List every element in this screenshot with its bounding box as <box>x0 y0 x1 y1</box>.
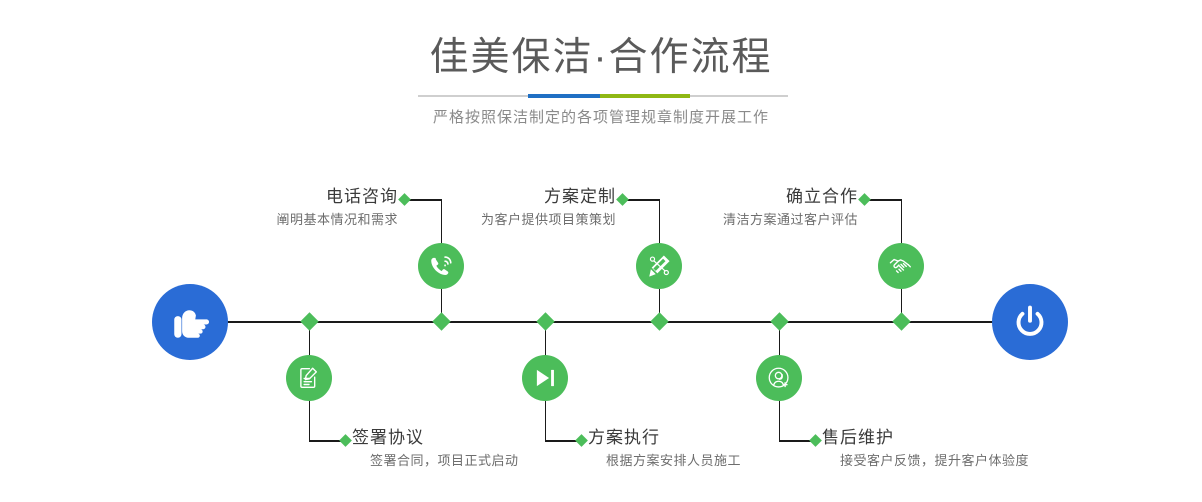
customer-service-add-icon <box>766 365 792 391</box>
timeline-end-endpoint <box>992 284 1068 360</box>
connector-vline-execute-lower <box>545 400 547 441</box>
axis-marker-signing <box>300 312 318 330</box>
connector-vline-design-upper <box>659 199 661 244</box>
step-heading: 方案执行 <box>588 427 741 449</box>
page-subtitle: 严格按照保洁制定的各项管理规章制度开展工作 <box>0 106 1202 127</box>
connector-vline-phone-upper <box>441 199 443 244</box>
step-heading: 电话咨询 <box>150 186 398 208</box>
timeline-start-endpoint <box>152 284 228 360</box>
step-node-design[interactable] <box>636 243 682 289</box>
title-divider <box>418 95 788 97</box>
divider-blue-segment <box>528 94 600 98</box>
pencil-design-icon <box>646 253 672 279</box>
connector-vline-signing-lower <box>309 400 311 441</box>
axis-marker-handshake <box>892 312 910 330</box>
step-subtext: 根据方案安排人员施工 <box>588 451 741 471</box>
step-node-phone[interactable] <box>418 243 464 289</box>
handshake-icon <box>888 253 914 279</box>
axis-marker-phone <box>432 312 450 330</box>
step-heading: 售后维护 <box>822 427 1029 449</box>
step-subtext: 签署合同，项目正式启动 <box>352 451 519 471</box>
step-subtext: 接受客户反馈，提升客户体验度 <box>822 451 1029 471</box>
branch-dot-signing <box>339 434 352 447</box>
step-heading: 签署协议 <box>352 427 519 449</box>
step-label-handshake: 确立合作 清洁方案通过客户评估 <box>600 186 858 230</box>
divider-green-segment <box>600 94 690 98</box>
connector-vline-handshake-upper <box>901 199 903 244</box>
play-forward-icon <box>532 365 558 391</box>
power-icon <box>1009 301 1051 343</box>
step-label-design: 方案定制 为客户提供项目策策划 <box>370 186 616 230</box>
infographic-canvas: 佳美保洁·合作流程 严格按照保洁制定的各项管理规章制度开展工作 <box>0 0 1202 502</box>
step-label-execute: 方案执行 根据方案安排人员施工 <box>588 427 741 471</box>
axis-marker-support <box>770 312 788 330</box>
pointing-hand-icon <box>169 301 211 343</box>
step-subtext: 清洁方案通过客户评估 <box>600 210 858 230</box>
branch-dot-execute <box>575 434 588 447</box>
axis-marker-execute <box>536 312 554 330</box>
step-label-phone: 电话咨询 阐明基本情况和需求 <box>150 186 398 230</box>
step-node-support[interactable] <box>756 355 802 401</box>
branch-dot-support <box>809 434 822 447</box>
document-signing-icon <box>296 365 322 391</box>
branch-dot-handshake <box>858 193 871 206</box>
step-subtext: 阐明基本情况和需求 <box>150 210 398 230</box>
phone-call-icon <box>428 253 454 279</box>
axis-marker-design <box>650 312 668 330</box>
page-title: 佳美保洁·合作流程 <box>0 36 1202 81</box>
step-label-signing: 签署协议 签署合同，项目正式启动 <box>352 427 519 471</box>
step-node-signing[interactable] <box>286 355 332 401</box>
step-heading: 确立合作 <box>600 186 858 208</box>
connector-vline-support-lower <box>779 400 781 441</box>
step-subtext: 为客户提供项目策策划 <box>370 210 616 230</box>
step-label-support: 售后维护 接受客户反馈，提升客户体验度 <box>822 427 1029 471</box>
step-node-handshake[interactable] <box>878 243 924 289</box>
step-node-execute[interactable] <box>522 355 568 401</box>
